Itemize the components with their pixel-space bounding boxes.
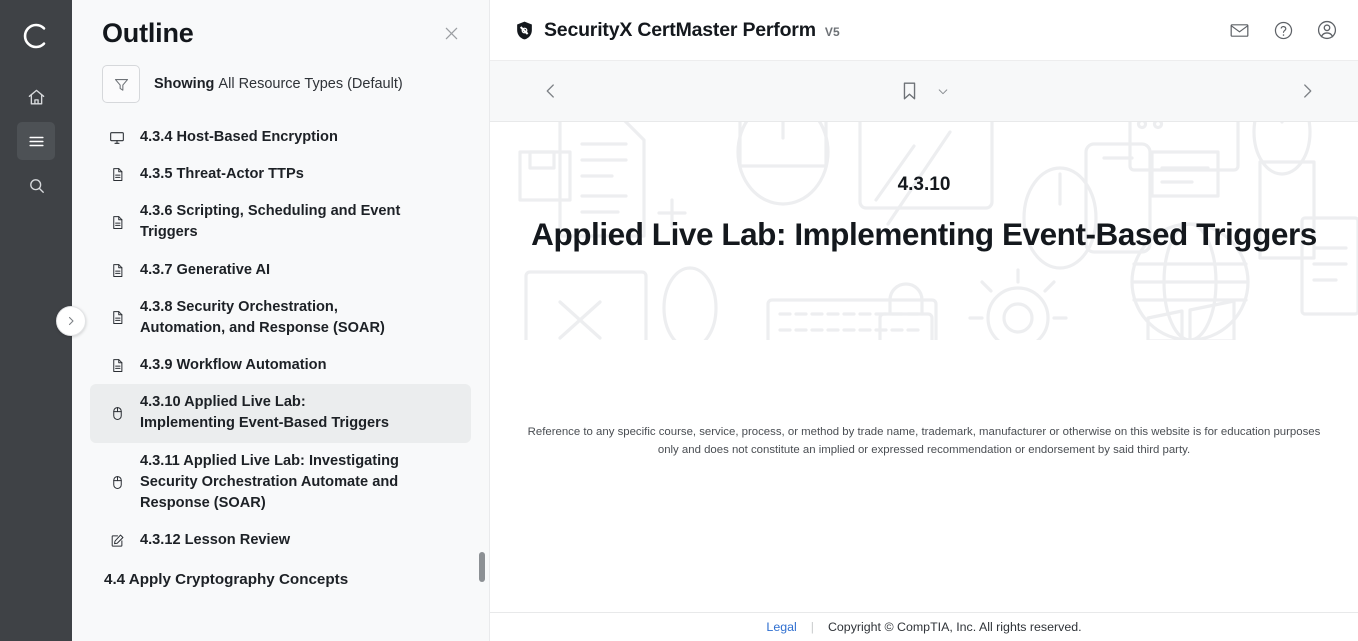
document-icon — [108, 309, 126, 327]
list-item[interactable]: 4.3.5 Threat-Actor TTPs — [90, 156, 471, 193]
mail-icon[interactable] — [1226, 17, 1252, 43]
bookmark-controls — [899, 80, 950, 102]
monitor-icon — [108, 129, 126, 147]
topbar-actions — [1226, 17, 1340, 43]
chevron-left-icon[interactable] — [542, 82, 560, 100]
list-item-label: 4.3.6 Scripting, Scheduling and Event Tr… — [140, 201, 402, 243]
list-item-label: 4.3.7 Generative AI — [140, 260, 270, 281]
list-item-label: 4.3.12 Lesson Review — [140, 530, 290, 551]
outline-scrollbar-track[interactable] — [479, 115, 485, 641]
rail-item-menu[interactable] — [17, 122, 55, 160]
left-icon-rail — [0, 0, 72, 641]
showing-label: Showing — [154, 76, 214, 92]
list-item-label: 4.3.4 Host-Based Encryption — [140, 127, 338, 148]
list-item[interactable]: 4.3.7 Generative AI — [90, 252, 471, 289]
lesson-number: 4.3.10 — [898, 174, 951, 196]
list-item[interactable]: 4.3.12 Lesson Review — [90, 522, 471, 559]
brand: SecurityX CertMaster Perform V5 — [514, 19, 840, 42]
list-item-label: 4.3.5 Threat-Actor TTPs — [140, 164, 304, 185]
rail-item-search[interactable] — [17, 166, 55, 204]
lesson-body: Reference to any specific course, servic… — [490, 340, 1358, 641]
document-icon — [108, 357, 126, 375]
chevron-right-icon[interactable] — [1298, 82, 1316, 100]
legal-link[interactable]: Legal — [766, 620, 796, 634]
document-icon — [108, 166, 126, 184]
comptia-c-logo-icon — [12, 12, 60, 60]
chevron-down-icon[interactable] — [937, 85, 950, 98]
outline-group-heading[interactable]: 4.4 Apply Cryptography Concepts — [90, 559, 471, 596]
list-item-label: 4.3.10 Applied Live Lab: Implementing Ev… — [140, 392, 402, 434]
help-icon[interactable] — [1270, 17, 1296, 43]
page-footer: Legal | Copyright © CompTIA, Inc. All ri… — [490, 613, 1358, 641]
list-item[interactable]: 4.3.9 Workflow Automation — [90, 347, 471, 384]
document-icon — [108, 261, 126, 279]
document-icon — [108, 213, 126, 231]
copyright-text: Copyright © CompTIA, Inc. All rights res… — [828, 620, 1082, 634]
lesson-hero: 4.3.10 Applied Live Lab: Implementing Ev… — [490, 122, 1358, 340]
account-icon[interactable] — [1314, 17, 1340, 43]
edit-icon — [108, 532, 126, 550]
expand-panel-button[interactable] — [56, 306, 86, 336]
lesson-navbar — [490, 60, 1358, 122]
version-badge: V5 — [825, 25, 840, 39]
outline-panel: Outline ShowingAll Resource Types (Defau… — [72, 0, 490, 641]
showing-text: ShowingAll Resource Types (Default) — [154, 75, 403, 93]
app-topbar: SecurityX CertMaster Perform V5 — [490, 0, 1358, 60]
outline-header: Outline — [72, 0, 489, 55]
brand-title: SecurityX CertMaster Perform — [544, 19, 816, 42]
mouse-icon — [108, 473, 126, 491]
lesson-title: Applied Live Lab: Implementing Event-Bas… — [531, 216, 1317, 253]
showing-value[interactable]: All Resource Types (Default) — [218, 76, 402, 92]
list-item[interactable]: 4.3.8 Security Orchestration, Automation… — [90, 289, 471, 347]
outline-title: Outline — [102, 18, 194, 49]
list-item-label: 4.3.9 Workflow Automation — [140, 355, 327, 376]
main-content: SecurityX CertMaster Perform V5 — [490, 0, 1358, 641]
list-item-label: 4.3.11 Applied Live Lab: Investigating S… — [140, 451, 402, 514]
app-root: Outline ShowingAll Resource Types (Defau… — [0, 0, 1358, 641]
shield-icon — [514, 20, 535, 41]
filter-icon[interactable] — [102, 65, 140, 103]
footer-separator: | — [811, 620, 814, 634]
close-icon[interactable] — [437, 20, 465, 48]
list-item[interactable]: 4.3.4 Host-Based Encryption — [90, 119, 471, 156]
rail-item-home[interactable] — [17, 78, 55, 116]
mouse-icon — [108, 404, 126, 422]
outline-scrollbar-thumb[interactable] — [479, 552, 485, 582]
list-item[interactable]: 4.3.6 Scripting, Scheduling and Event Tr… — [90, 193, 471, 251]
bookmark-icon[interactable] — [899, 80, 921, 102]
list-item[interactable]: 4.3.11 Applied Live Lab: Investigating S… — [90, 443, 471, 522]
disclaimer-text: Reference to any specific course, servic… — [490, 424, 1358, 459]
filter-row: ShowingAll Resource Types (Default) — [72, 55, 489, 115]
list-item-selected[interactable]: 4.3.10 Applied Live Lab: Implementing Ev… — [90, 384, 471, 442]
list-item-label: 4.3.8 Security Orchestration, Automation… — [140, 297, 402, 339]
rail-nav — [17, 78, 55, 204]
outline-list: 4.3.4 Host-Based Encryption 4.3.5 Threat… — [72, 115, 489, 641]
